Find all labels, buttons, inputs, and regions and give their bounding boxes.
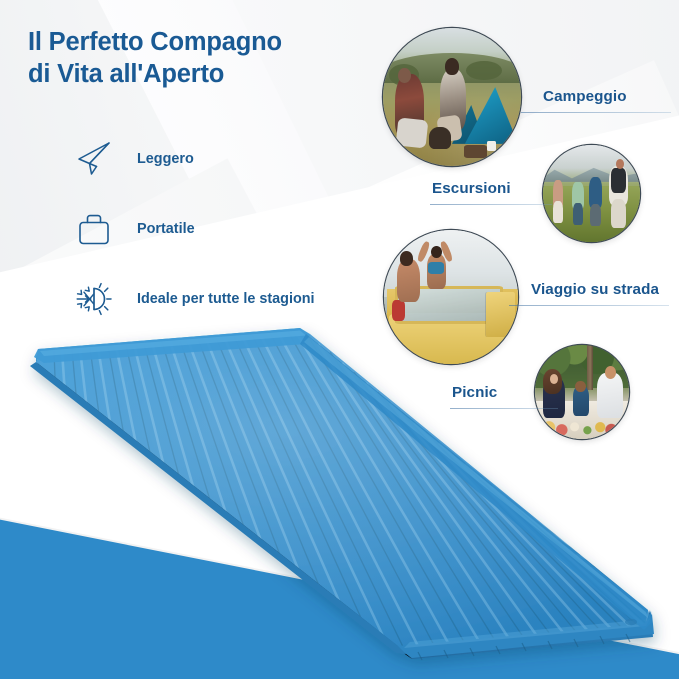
feature-item-leggero: Leggero (72, 131, 372, 187)
handbag-icon (72, 207, 116, 251)
pad-valve (625, 619, 637, 625)
sleeping-pad-body (0, 322, 679, 679)
product-image-sleeping-pad (0, 322, 679, 679)
use-case-photo-hiking (543, 145, 640, 242)
page-title-line-2: di Vita all'Aperto (28, 58, 368, 90)
page-title: Il Perfetto Compagno di Vita all'Aperto (28, 26, 368, 90)
use-case-rule-hiking (430, 204, 552, 205)
use-case-rule-camping (521, 112, 671, 113)
use-case-label-camping: Campeggio (543, 88, 627, 105)
use-case-photo-camping (383, 28, 521, 166)
feature-list: Leggero Portatile (72, 131, 372, 341)
use-case-label-hiking: Escursioni (432, 180, 511, 197)
sun-snowflake-icon (72, 277, 116, 321)
paper-plane-icon (72, 137, 116, 181)
feature-label-stagioni: Ideale per tutte le stagioni (137, 291, 315, 307)
use-case-label-roadtrip: Viaggio su strada (531, 281, 659, 298)
feature-label-portatile: Portatile (137, 221, 195, 237)
feature-label-leggero: Leggero (137, 151, 194, 167)
page-title-line-1: Il Perfetto Compagno (28, 26, 368, 58)
feature-item-portatile: Portatile (72, 201, 372, 257)
product-infographic: Il Perfetto Compagno di Vita all'Aperto … (0, 0, 679, 679)
use-case-rule-roadtrip (509, 305, 669, 306)
feature-item-stagioni: Ideale per tutte le stagioni (72, 271, 372, 327)
